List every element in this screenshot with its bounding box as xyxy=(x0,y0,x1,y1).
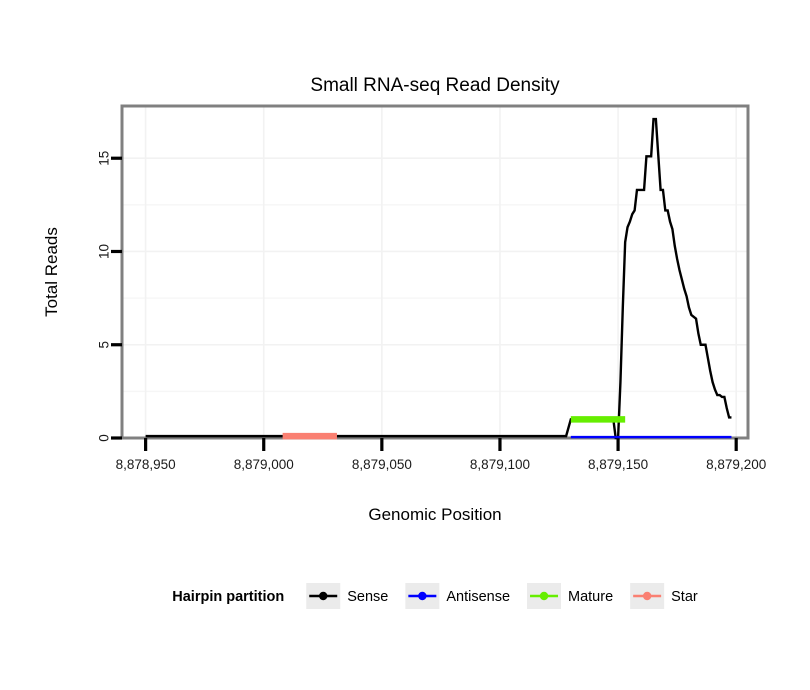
y-axis-title: Total Reads xyxy=(42,227,61,317)
legend-key-point xyxy=(643,592,651,600)
legend-entry-sense[interactable]: Sense xyxy=(306,583,388,609)
x-axis-tick-label: 8,878,950 xyxy=(116,457,176,472)
y-axis-tick-label: 5 xyxy=(97,341,112,349)
x-axis-tick-label: 8,879,150 xyxy=(588,457,648,472)
y-axis-tick-label: 0 xyxy=(97,434,112,442)
x-axis-tick-labels: 8,878,9508,879,0008,879,0508,879,1008,87… xyxy=(116,457,767,472)
x-axis-tick-label: 8,879,200 xyxy=(706,457,766,472)
legend-entry-label: Mature xyxy=(568,589,613,605)
legend-entry-antisense[interactable]: Antisense xyxy=(405,583,510,609)
x-axis: 8,878,9508,879,0008,879,0508,879,1008,87… xyxy=(116,438,767,524)
legend-entry-label: Sense xyxy=(347,589,388,605)
x-axis-ticks xyxy=(146,438,737,451)
y-axis-tick-label: 15 xyxy=(97,151,112,166)
y-axis-ticks xyxy=(111,158,122,438)
y-axis-tick-label: 10 xyxy=(97,244,112,259)
legend-key-point xyxy=(319,592,327,600)
legend-key-point xyxy=(540,592,548,600)
legend-key-point xyxy=(418,592,426,600)
legend-entries: SenseAntisenseMatureStar xyxy=(306,583,698,609)
x-axis-tick-label: 8,879,000 xyxy=(234,457,294,472)
legend-title: Hairpin partition xyxy=(172,589,284,605)
x-axis-tick-label: 8,879,050 xyxy=(352,457,412,472)
legend-entry-star[interactable]: Star xyxy=(630,583,698,609)
legend-entry-label: Antisense xyxy=(446,589,510,605)
x-axis-title: Genomic Position xyxy=(368,505,501,524)
plot-panel-background xyxy=(122,106,748,438)
legend: Hairpin partition SenseAntisenseMatureSt… xyxy=(172,583,698,609)
x-axis-tick-label: 8,879,100 xyxy=(470,457,530,472)
chart-container: Small RNA-seq Read Density 051015 Total … xyxy=(0,0,810,690)
y-axis: 051015 Total Reads xyxy=(42,151,122,442)
y-axis-tick-labels: 051015 xyxy=(97,151,112,442)
read-density-chart: Small RNA-seq Read Density 051015 Total … xyxy=(0,0,810,690)
legend-entry-mature[interactable]: Mature xyxy=(527,583,613,609)
legend-entry-label: Star xyxy=(671,589,698,605)
chart-title: Small RNA-seq Read Density xyxy=(310,75,560,96)
